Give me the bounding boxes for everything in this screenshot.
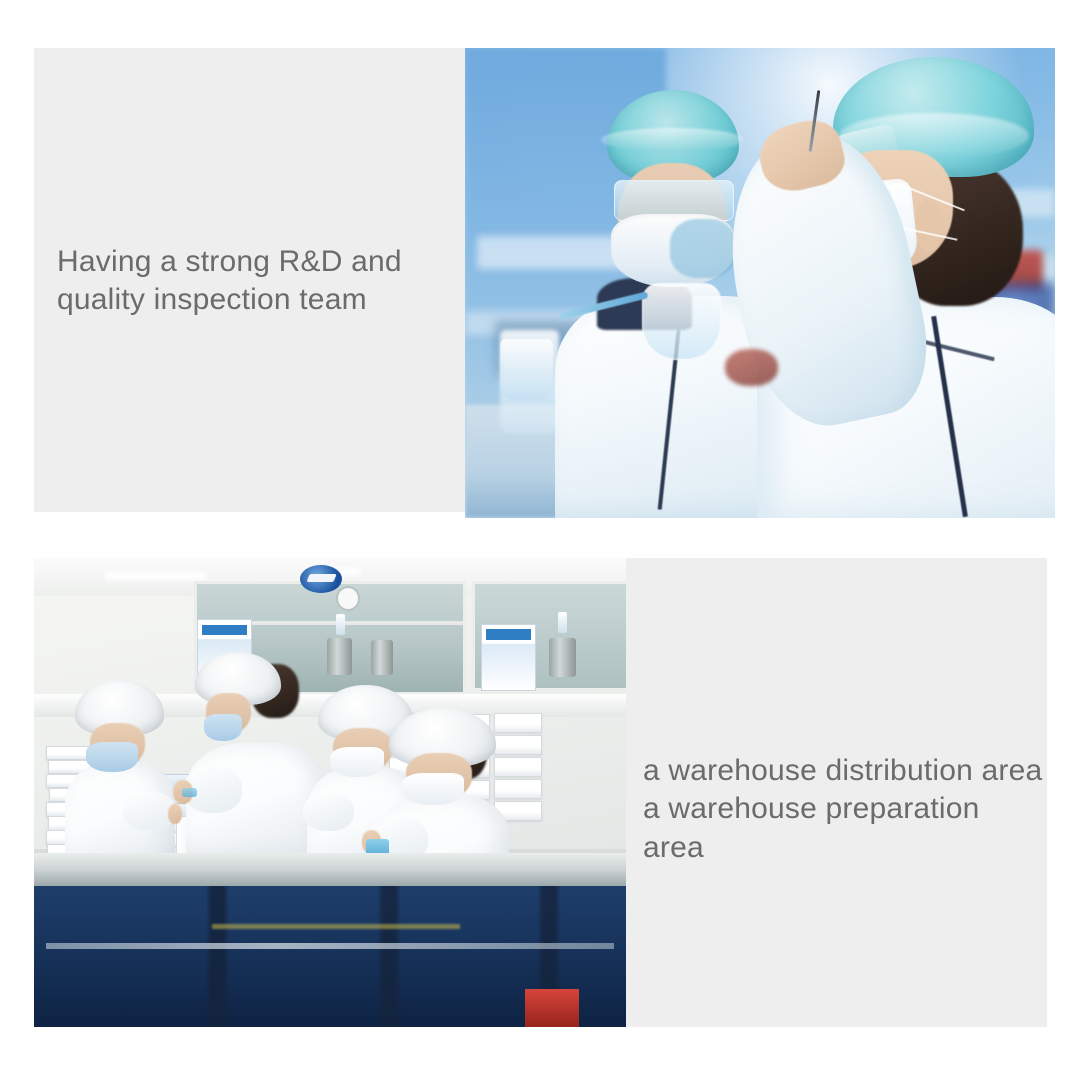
hand: [168, 804, 182, 825]
wall-clock: [336, 586, 360, 611]
red-bin: [525, 989, 578, 1027]
steel-canister: [549, 638, 576, 677]
face-mask: [204, 714, 242, 741]
specimen-sample: [725, 349, 778, 387]
rnd-caption-text: Having a strong R&D and quality inspecti…: [57, 243, 457, 320]
ear: [915, 200, 942, 251]
blue-packaging-item: [182, 788, 197, 797]
glass-flask: [642, 283, 721, 360]
carton: [494, 779, 542, 799]
carton: [494, 735, 542, 755]
warehouse-caption-text: a warehouse distribution area a warehous…: [643, 752, 1043, 867]
carton: [494, 757, 542, 777]
face-mask: [86, 742, 138, 772]
carton: [494, 713, 542, 733]
steel-canister: [371, 640, 392, 675]
beaker: [500, 339, 553, 400]
arm: [303, 793, 354, 831]
steel-canister: [327, 638, 352, 676]
sample-vial: [336, 614, 345, 635]
face-mask: [402, 773, 464, 805]
warehouse-packing-photo: [34, 558, 626, 1027]
table-lower-shelf: [46, 943, 614, 950]
wall-notice-sign: [481, 624, 536, 692]
warehouse-worker-bending: [200, 652, 312, 858]
mask-shadow: [670, 219, 736, 279]
page-root: Having a strong R&D and quality inspecti…: [0, 0, 1080, 1080]
company-logo-decal: [300, 565, 341, 593]
floor-marking: [212, 924, 461, 929]
sample-vial: [558, 612, 567, 633]
lab-quality-inspection-photo: [465, 48, 1055, 518]
ceiling-light: [105, 572, 206, 580]
warehouse-worker-left: [75, 680, 164, 868]
face-mask: [330, 747, 385, 777]
